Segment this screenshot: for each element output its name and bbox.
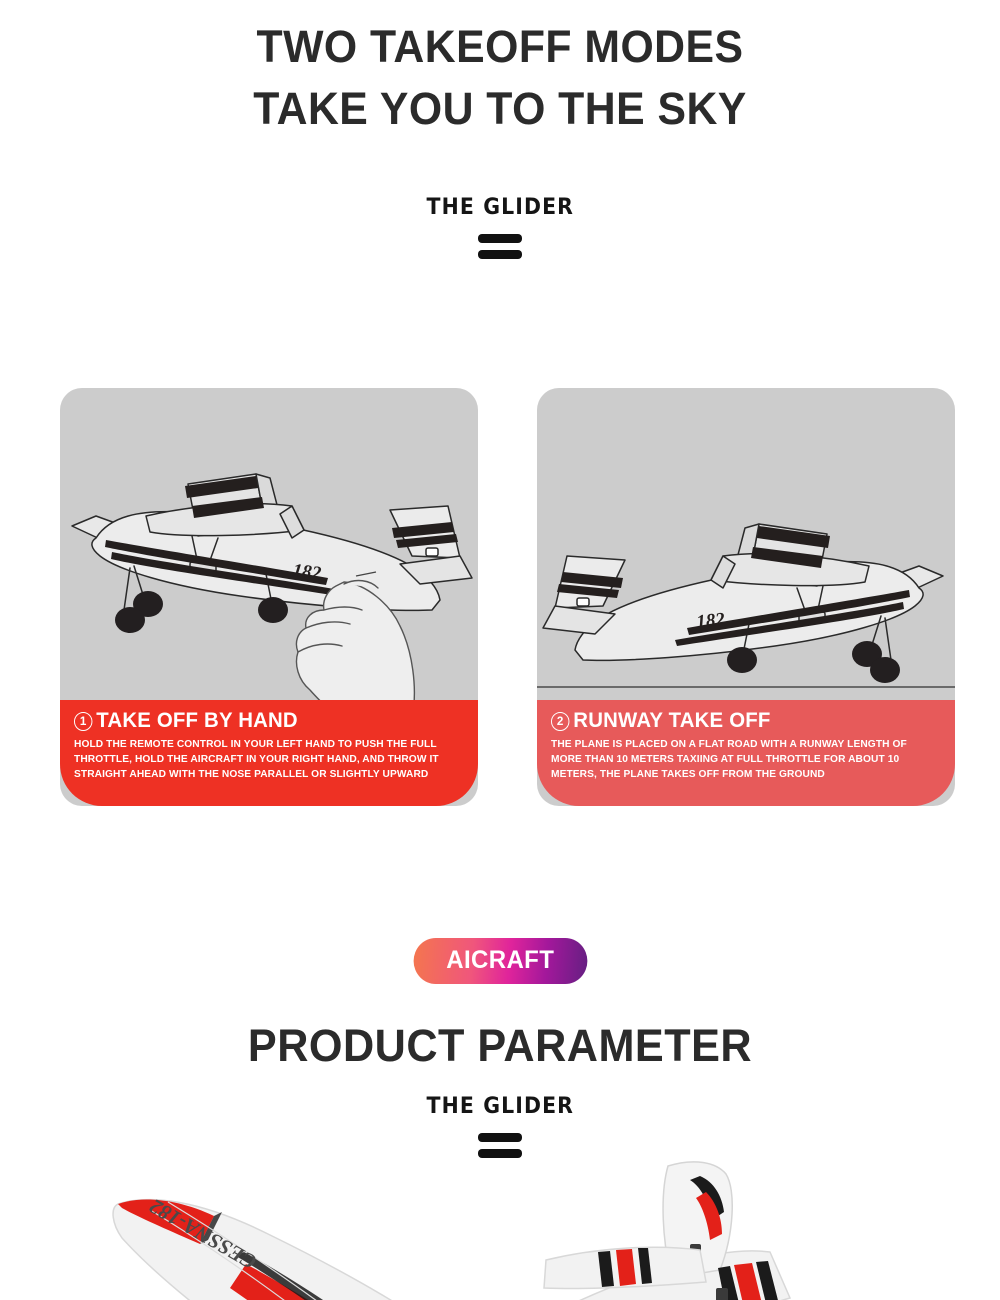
eyebrow-top-label: THE GLIDER <box>426 195 574 220</box>
headline-line-2: TAKE YOU TO THE SKY <box>25 78 975 140</box>
caption-title-1: 1 TAKE OFF BY HAND <box>74 709 450 733</box>
caption-title-2: 2 RUNWAY TAKE OFF <box>551 709 927 733</box>
aicraft-badge-wrap: AICRAFT <box>0 938 1000 984</box>
equals-divider-icon <box>478 234 522 259</box>
decal-182: 182 <box>695 609 726 633</box>
headline-line-1: TWO TAKEOFF MODES <box>25 16 975 78</box>
runway-ground-line <box>537 686 955 688</box>
takeoff-card-hand: 182 1 TAKE OFF BY HAND HOLD THE REMOTE C… <box>60 388 478 806</box>
eyebrow-bottom-label: THE GLIDER <box>426 1094 574 1119</box>
caption-description-1: HOLD THE REMOTE CONTROL IN YOUR LEFT HAN… <box>74 738 454 782</box>
caption-title-text-2: RUNWAY TAKE OFF <box>573 709 770 733</box>
product-photo: CESSNA-182 <box>0 1148 1000 1300</box>
eyebrow-top: THE GLIDER <box>0 195 1000 259</box>
caption-title-text-1: TAKE OFF BY HAND <box>96 709 298 733</box>
caption-ribbon-2: 2 RUNWAY TAKE OFF THE PLANE IS PLACED ON… <box>537 700 955 806</box>
page-headline: TWO TAKEOFF MODES TAKE YOU TO THE SKY <box>0 16 1000 140</box>
step-number-1: 1 <box>74 712 92 731</box>
aicraft-badge: AICRAFT <box>413 938 586 984</box>
step-number-2: 2 <box>551 712 569 731</box>
decal-182: 182 <box>291 560 322 584</box>
takeoff-card-runway: 182 2 RUNWAY TAKE OFF THE PLANE IS PLACE… <box>537 388 955 806</box>
section-title: PRODUCT PARAMETER <box>20 1020 980 1072</box>
caption-ribbon-1: 1 TAKE OFF BY HAND HOLD THE REMOTE CONTR… <box>60 700 478 806</box>
infographic-page: TWO TAKEOFF MODES TAKE YOU TO THE SKY TH… <box>0 0 1000 1300</box>
caption-description-2: THE PLANE IS PLACED ON A FLAT ROAD WITH … <box>551 738 931 782</box>
